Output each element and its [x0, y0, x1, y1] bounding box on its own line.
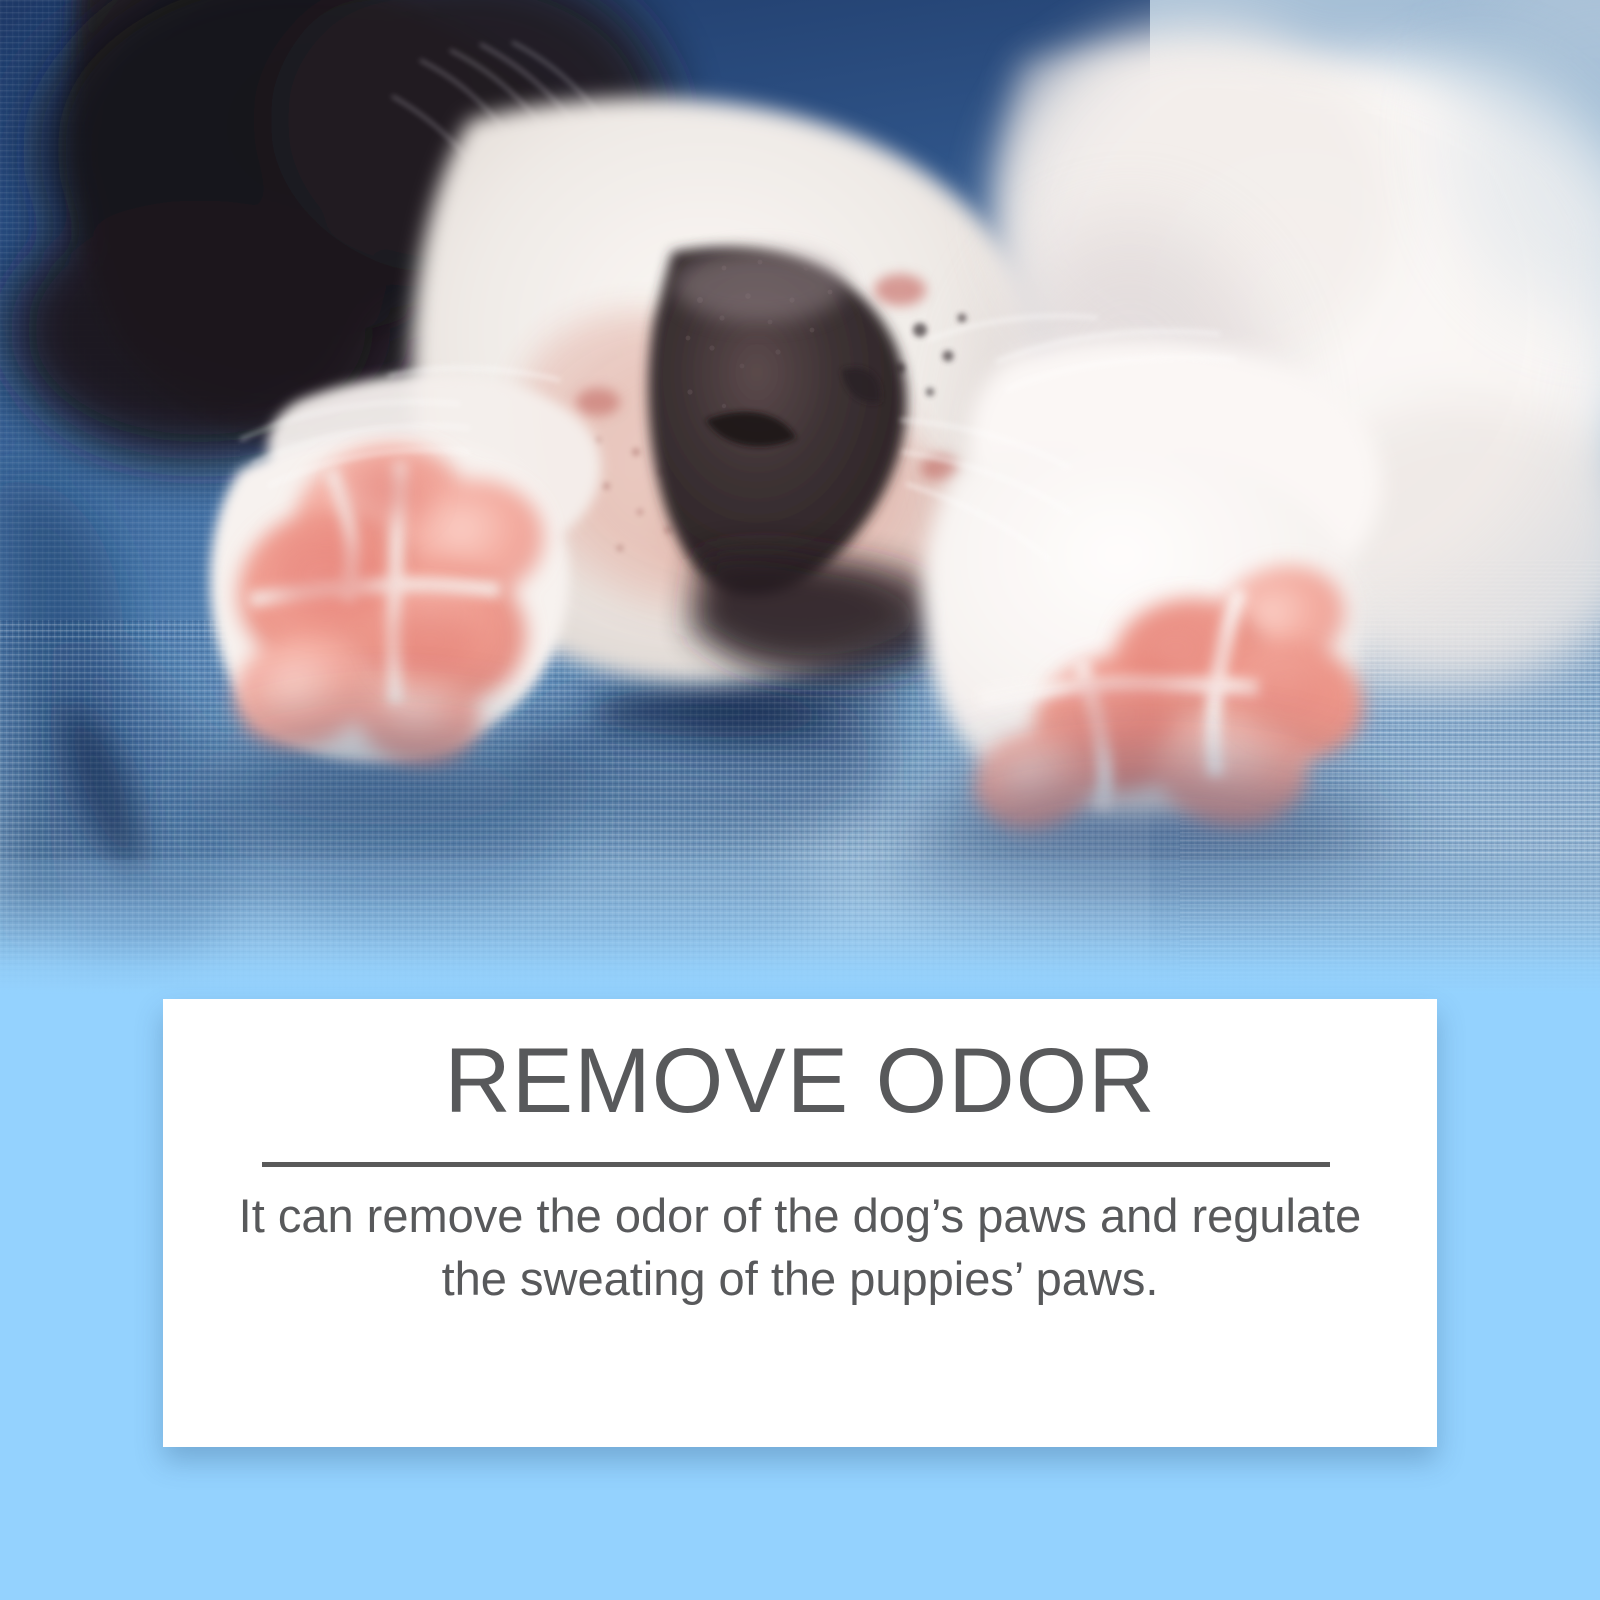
- puppy-photo: [0, 0, 1600, 1000]
- feature-text-card: REMOVE ODOR It can remove the odor of th…: [163, 999, 1437, 1447]
- card-title: REMOVE ODOR: [163, 1035, 1437, 1127]
- feature-banner-page: REMOVE ODOR It can remove the odor of th…: [0, 0, 1600, 1600]
- card-description: It can remove the odor of the dog’s paws…: [203, 1185, 1397, 1311]
- title-divider: [262, 1162, 1330, 1167]
